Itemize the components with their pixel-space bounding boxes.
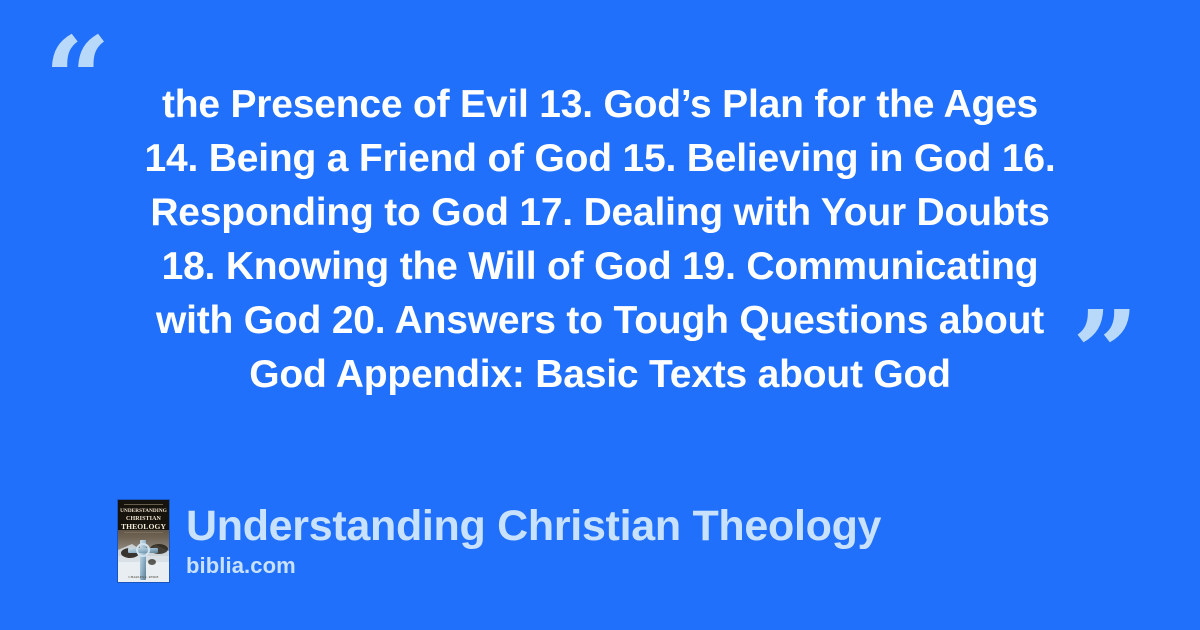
- book-title: Understanding Christian Theology: [186, 503, 881, 549]
- quote-line: Responding to God 17. Dealing with Your …: [110, 186, 1090, 240]
- quote-line: the Presence of Evil 13. God’s Plan for …: [110, 78, 1090, 132]
- book-cover-thumbnail: UNDERSTANDING CHRISTIAN THEOLOGY CHARLES…: [118, 500, 169, 582]
- svg-text:UNDERSTANDING: UNDERSTANDING: [120, 508, 167, 514]
- quote-line: God Appendix: Basic Texts about God: [110, 348, 1090, 402]
- quote-line: 14. Being a Friend of God 15. Believing …: [110, 132, 1090, 186]
- footer-attribution: UNDERSTANDING CHRISTIAN THEOLOGY CHARLES…: [118, 500, 881, 582]
- book-cover-art: UNDERSTANDING CHRISTIAN THEOLOGY CHARLES…: [118, 500, 169, 582]
- svg-text:THEOLOGY: THEOLOGY: [121, 522, 167, 531]
- close-quote-icon: ”: [1072, 296, 1139, 412]
- footer-text-group: Understanding Christian Theology biblia.…: [186, 503, 881, 579]
- svg-text:CHARLES C. RYRIE: CHARLES C. RYRIE: [128, 575, 158, 579]
- quote-card: “ the Presence of Evil 13. God’s Plan fo…: [0, 0, 1200, 630]
- quote-line: with God 20. Answers to Tough Questions …: [110, 294, 1090, 348]
- quote-text: the Presence of Evil 13. God’s Plan for …: [110, 78, 1090, 402]
- site-name: biblia.com: [186, 553, 881, 579]
- open-quote-icon: “: [44, 22, 111, 138]
- quote-line: 18. Knowing the Will of God 19. Communic…: [110, 240, 1090, 294]
- quote-block: “ the Presence of Evil 13. God’s Plan fo…: [0, 0, 1200, 430]
